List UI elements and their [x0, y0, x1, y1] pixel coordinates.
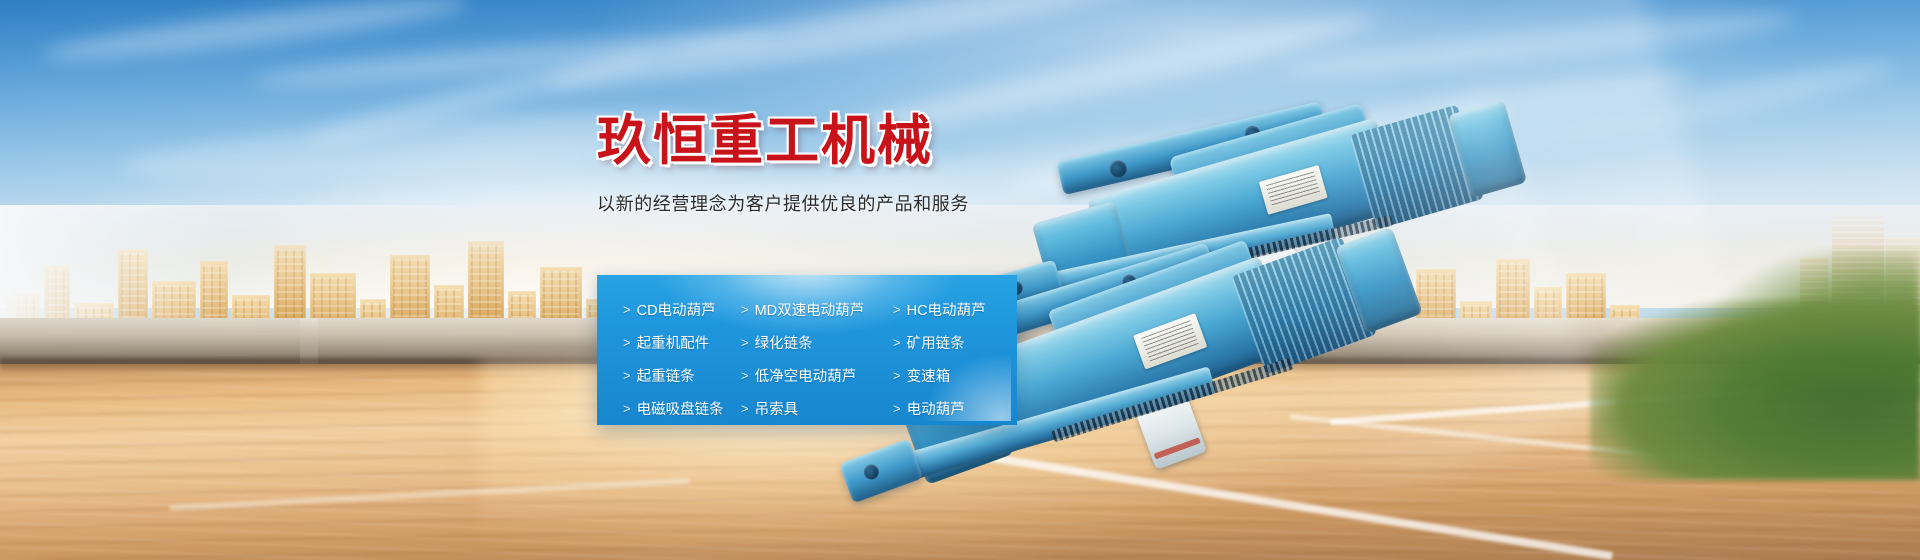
menu-item-label: MD双速电动葫芦	[755, 299, 865, 320]
chevron-right-icon: >	[741, 401, 749, 416]
chevron-right-icon: >	[893, 368, 901, 383]
product-category-menu: > CD电动葫芦 > MD双速电动葫芦 > HC电动葫芦 > 起重机配件 > 绿…	[597, 275, 1017, 425]
menu-item-crane-parts[interactable]: > 起重机配件	[623, 332, 741, 353]
menu-item-md-dual-speed-hoist[interactable]: > MD双速电动葫芦	[741, 299, 893, 320]
chevron-right-icon: >	[893, 335, 901, 350]
page-subtitle: 以新的经营理念为客户提供优良的产品和服务	[597, 190, 1027, 216]
menu-row: > CD电动葫芦 > MD双速电动葫芦 > HC电动葫芦	[623, 293, 991, 326]
chevron-right-icon: >	[893, 302, 901, 317]
menu-item-hc-hoist[interactable]: > HC电动葫芦	[893, 299, 986, 320]
menu-item-label: 电动葫芦	[907, 398, 965, 419]
hillside-foliage	[1590, 300, 1920, 480]
menu-row: > 起重机配件 > 绿化链条 > 矿用链条	[623, 326, 991, 359]
menu-item-mining-chain[interactable]: > 矿用链条	[893, 332, 965, 353]
menu-item-lifting-chain[interactable]: > 起重链条	[623, 365, 741, 386]
chevron-right-icon: >	[623, 401, 631, 416]
menu-item-gearbox[interactable]: > 变速箱	[893, 365, 950, 386]
chevron-right-icon: >	[623, 302, 631, 317]
page-title: 玖恒重工机械	[597, 110, 1027, 174]
headline-block: 玖恒重工机械 以新的经营理念为客户提供优良的产品和服务	[597, 110, 1027, 216]
chevron-right-icon: >	[741, 302, 749, 317]
menu-item-cd-hoist[interactable]: > CD电动葫芦	[623, 299, 741, 320]
chevron-right-icon: >	[741, 368, 749, 383]
menu-item-label: 吊索具	[755, 398, 799, 419]
chevron-right-icon: >	[893, 401, 901, 416]
menu-item-electric-hoist[interactable]: > 电动葫芦	[893, 398, 965, 419]
menu-item-label: 绿化链条	[755, 332, 813, 353]
chevron-right-icon: >	[741, 335, 749, 350]
menu-item-label: 变速箱	[907, 365, 951, 386]
menu-item-low-headroom-hoist[interactable]: > 低净空电动葫芦	[741, 365, 893, 386]
chevron-right-icon: >	[623, 335, 631, 350]
menu-item-label: 矿用链条	[907, 332, 965, 353]
menu-row: > 电磁吸盘链条 > 吊索具 > 电动葫芦	[623, 392, 991, 425]
menu-item-lifting-sling[interactable]: > 吊索具	[741, 398, 893, 419]
menu-item-label: 低净空电动葫芦	[755, 365, 857, 386]
menu-row: > 起重链条 > 低净空电动葫芦 > 变速箱	[623, 359, 991, 392]
menu-item-label: 电磁吸盘链条	[637, 398, 724, 419]
menu-item-label: 起重机配件	[637, 332, 710, 353]
menu-item-greening-chain[interactable]: > 绿化链条	[741, 332, 893, 353]
menu-item-magnetic-chuck-chain[interactable]: > 电磁吸盘链条	[623, 398, 741, 419]
menu-item-label: 起重链条	[637, 365, 695, 386]
menu-item-label: CD电动葫芦	[637, 299, 716, 320]
chevron-right-icon: >	[623, 368, 631, 383]
menu-item-label: HC电动葫芦	[907, 299, 986, 320]
promo-banner: 玖恒重工机械 以新的经营理念为客户提供优良的产品和服务 > CD电动葫芦 > M…	[0, 0, 1920, 560]
